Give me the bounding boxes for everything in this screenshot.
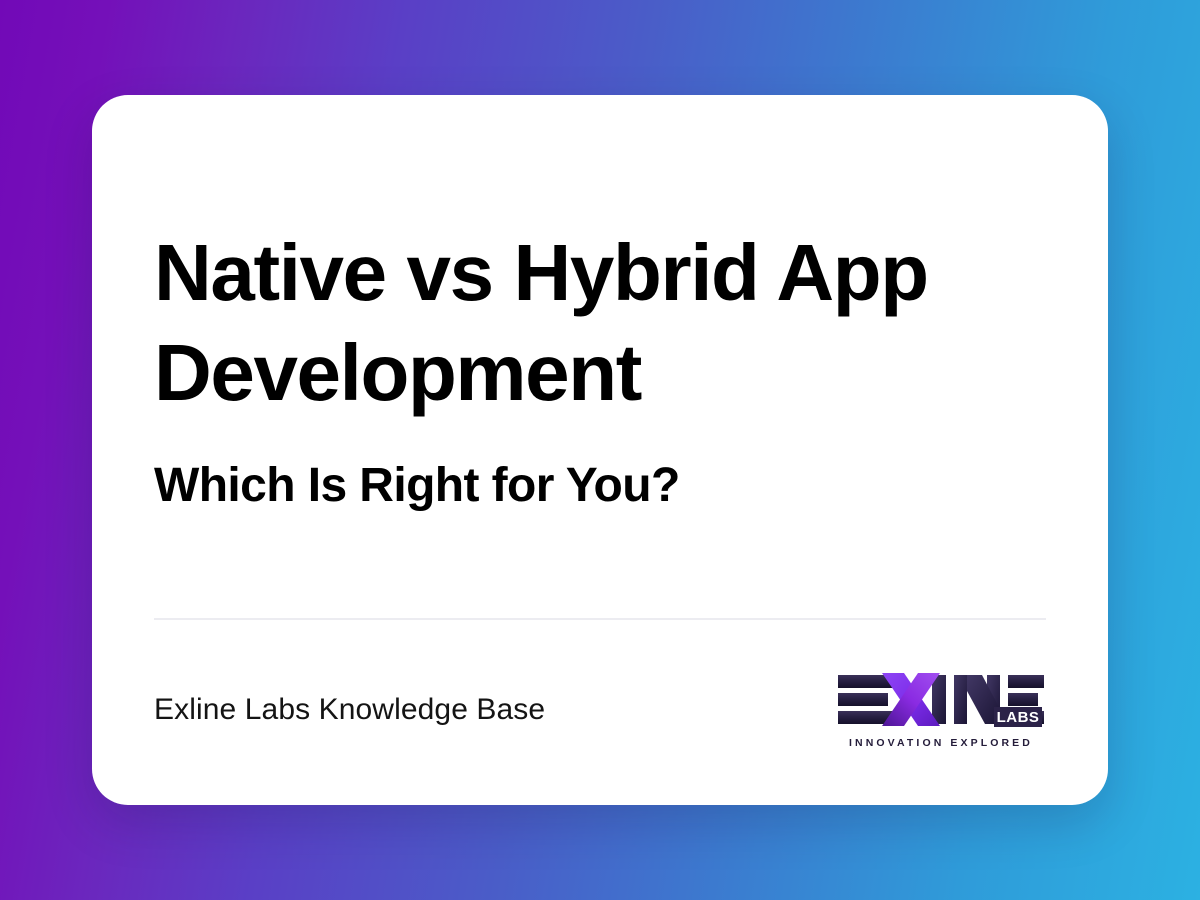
page-subtitle: Which Is Right for You? (154, 457, 1046, 515)
labs-wordmark: LABS (997, 709, 1040, 726)
card-footer: Exline Labs Knowledge Base (154, 650, 1046, 770)
footer-source-label: Exline Labs Knowledge Base (154, 693, 545, 727)
card-body: Native vs Hybrid App Development Which I… (154, 95, 1046, 515)
exline-wordmark-icon: LABS (836, 671, 1046, 733)
exline-labs-logo: LABS INNOVATION EXPLORED (836, 671, 1046, 749)
logo-tagline: INNOVATION EXPLORED (849, 737, 1033, 749)
page-title: Native vs Hybrid App Development (154, 223, 984, 423)
content-card: Native vs Hybrid App Development Which I… (92, 95, 1108, 805)
divider (154, 618, 1046, 620)
